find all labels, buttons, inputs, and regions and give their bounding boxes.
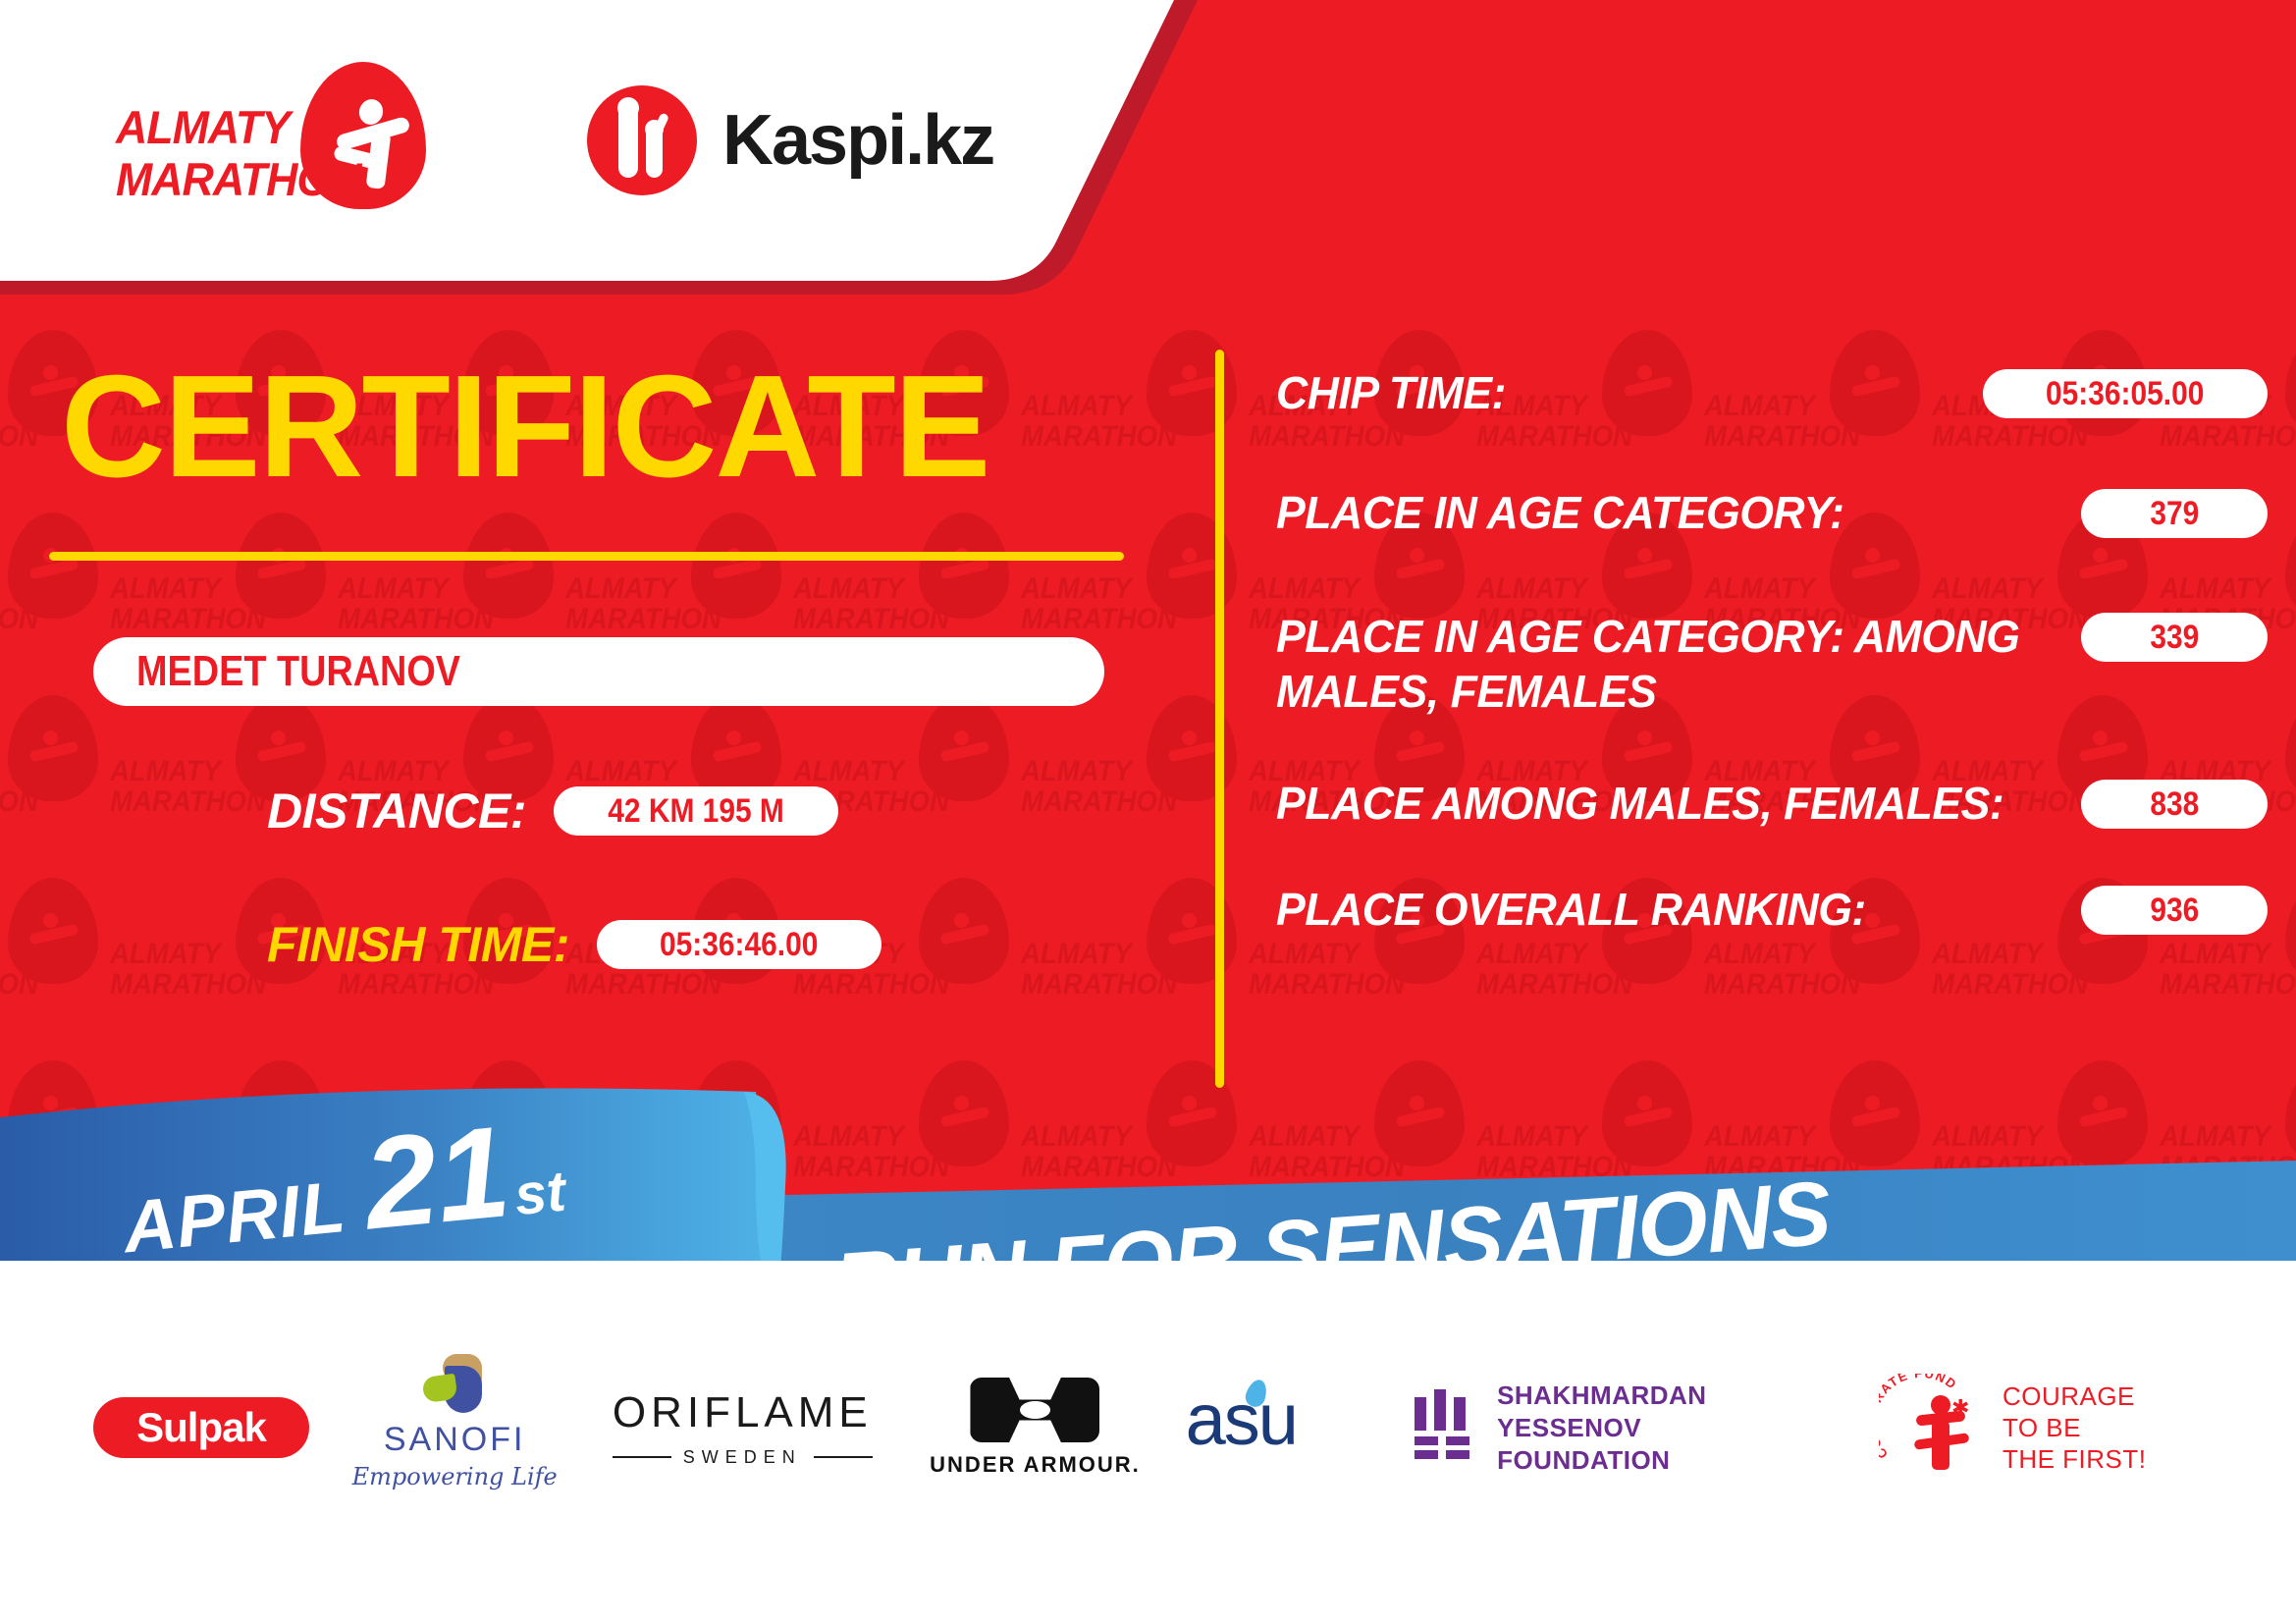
kaspi-logo-text: Kaspi.kz (722, 100, 993, 181)
title-divider (49, 552, 1124, 561)
sponsor-bar: Sulpak SANOFI Empowering Life ORIFLAME S… (0, 1261, 2296, 1624)
courage-figure-icon: ✱ (1918, 1395, 1963, 1474)
sulpak-logo-text: Sulpak (136, 1404, 266, 1451)
distance-value-pill: 42 KM 195 M (554, 786, 838, 836)
oriflame-logo: ORIFLAME SWEDEN (600, 1388, 884, 1468)
results-column: CHIP TIME: 05:36:05.00 PLACE IN AGE CATE… (1276, 365, 2268, 984)
sanofi-tagline: Empowering Life (351, 1463, 558, 1490)
chip-time-value-pill: 05:36:05.00 (1983, 369, 2268, 418)
asu-logo: asu (1186, 1383, 1372, 1472)
overall-ranking-value: 936 (2150, 892, 2199, 930)
almaty-marathon-logo: ALMATY MARATHON (116, 62, 440, 219)
age-category-gender-value-pill: 339 (2081, 613, 2268, 662)
yessenov-logo-text: SHAKHMARDAN YESSENOV FOUNDATION (1497, 1380, 1837, 1477)
distance-row: DISTANCE: 42 KM 195 M (267, 783, 1168, 839)
age-category-value: 379 (2150, 495, 2199, 533)
sponsor-yessenov: SHAKHMARDAN YESSENOV FOUNDATION (1415, 1380, 1837, 1477)
sulpak-logo: Sulpak (93, 1397, 309, 1458)
sponsor-oriflame: ORIFLAME SWEDEN (600, 1388, 884, 1468)
kaspi-people-icon (587, 85, 697, 195)
oriflame-tagline: SWEDEN (683, 1447, 802, 1468)
result-row-age-category: PLACE IN AGE CATEGORY: 379 (1276, 485, 2268, 540)
finish-time-label: FINISH TIME: (267, 916, 569, 973)
result-row-chip-time: CHIP TIME: 05:36:05.00 (1276, 365, 2268, 420)
age-category-gender-label: PLACE IN AGE CATEGORY: AMONG MALES, FEMA… (1276, 609, 2038, 719)
certificate-canvas: ALMATYMARATHONALMATYMARATHONALMATYMARATH… (0, 0, 2296, 1624)
overall-ranking-value-pill: 936 (2081, 886, 2268, 935)
gender-place-label: PLACE AMONG MALES, FEMALES: (1276, 776, 2038, 831)
courage-mark-icon: CORPORATE FUND ✱ (1879, 1374, 1987, 1482)
result-row-gender: PLACE AMONG MALES, FEMALES: 838 (1276, 776, 2268, 831)
finish-time-value: 05:36:46.00 (660, 926, 818, 964)
page-title: CERTIFICATE (61, 353, 1168, 501)
finish-time-row: FINISH TIME: 05:36:46.00 (267, 916, 1168, 973)
sponsor-courage: CORPORATE FUND ✱ COURAGE TO BE THE FIRST… (1879, 1374, 2203, 1482)
marathon-logo-text: ALMATY MARATHON (116, 101, 361, 205)
distance-value: 42 KM 195 M (608, 792, 784, 831)
asu-logo-text: asu (1186, 1383, 1372, 1456)
courage-logo: CORPORATE FUND ✱ COURAGE TO BE THE FIRST… (1879, 1374, 2203, 1482)
sanofi-mark-icon (415, 1354, 494, 1415)
result-row-overall: PLACE OVERALL RANKING: 936 (1276, 882, 2268, 937)
participant-name-field: MEDET TURANOV (93, 637, 1104, 706)
sanofi-logo: SANOFI Empowering Life (351, 1354, 558, 1501)
chip-time-label: CHIP TIME: (1276, 365, 1943, 420)
event-day: 21 (359, 1110, 514, 1246)
certificate-left-column: CERTIFICATE MEDET TURANOV DISTANCE: 42 K… (0, 353, 1168, 973)
event-day-suffix: st (511, 1158, 568, 1228)
chip-time-value: 05:36:05.00 (2046, 375, 2204, 413)
sponsor-sanofi: SANOFI Empowering Life (351, 1354, 558, 1501)
sponsor-under-armour: UNDER ARMOUR. (927, 1378, 1143, 1478)
gender-place-value-pill: 838 (2081, 780, 2268, 829)
oriflame-logo-text: ORIFLAME (600, 1388, 884, 1437)
finish-time-value-pill: 05:36:46.00 (597, 920, 881, 969)
age-category-gender-value: 339 (2150, 619, 2199, 657)
distance-label: DISTANCE: (267, 783, 526, 839)
courage-logo-text: COURAGE TO BE THE FIRST! (2002, 1380, 2147, 1475)
sanofi-logo-text: SANOFI (351, 1421, 558, 1459)
age-category-label: PLACE IN AGE CATEGORY: (1276, 485, 2038, 540)
header-logos: ALMATY MARATHON Kaspi.kz (0, 0, 1129, 280)
sponsor-asu: asu (1186, 1383, 1372, 1472)
overall-ranking-label: PLACE OVERALL RANKING: (1276, 882, 2038, 937)
column-divider (1215, 350, 1224, 1088)
age-category-value-pill: 379 (2081, 489, 2268, 538)
under-armour-logo: UNDER ARMOUR. (927, 1378, 1143, 1478)
kaspi-logo: Kaspi.kz (587, 85, 993, 195)
under-armour-logo-text: UNDER ARMOUR. (927, 1452, 1143, 1478)
yessenov-mark-icon (1415, 1389, 1471, 1466)
under-armour-mark-icon (970, 1378, 1099, 1442)
yessenov-logo: SHAKHMARDAN YESSENOV FOUNDATION (1415, 1380, 1837, 1477)
result-row-age-category-gender: PLACE IN AGE CATEGORY: AMONG MALES, FEMA… (1276, 609, 2268, 719)
sponsor-sulpak: Sulpak (93, 1397, 309, 1458)
gender-place-value: 838 (2150, 785, 2199, 824)
participant-name: MEDET TURANOV (136, 647, 460, 696)
